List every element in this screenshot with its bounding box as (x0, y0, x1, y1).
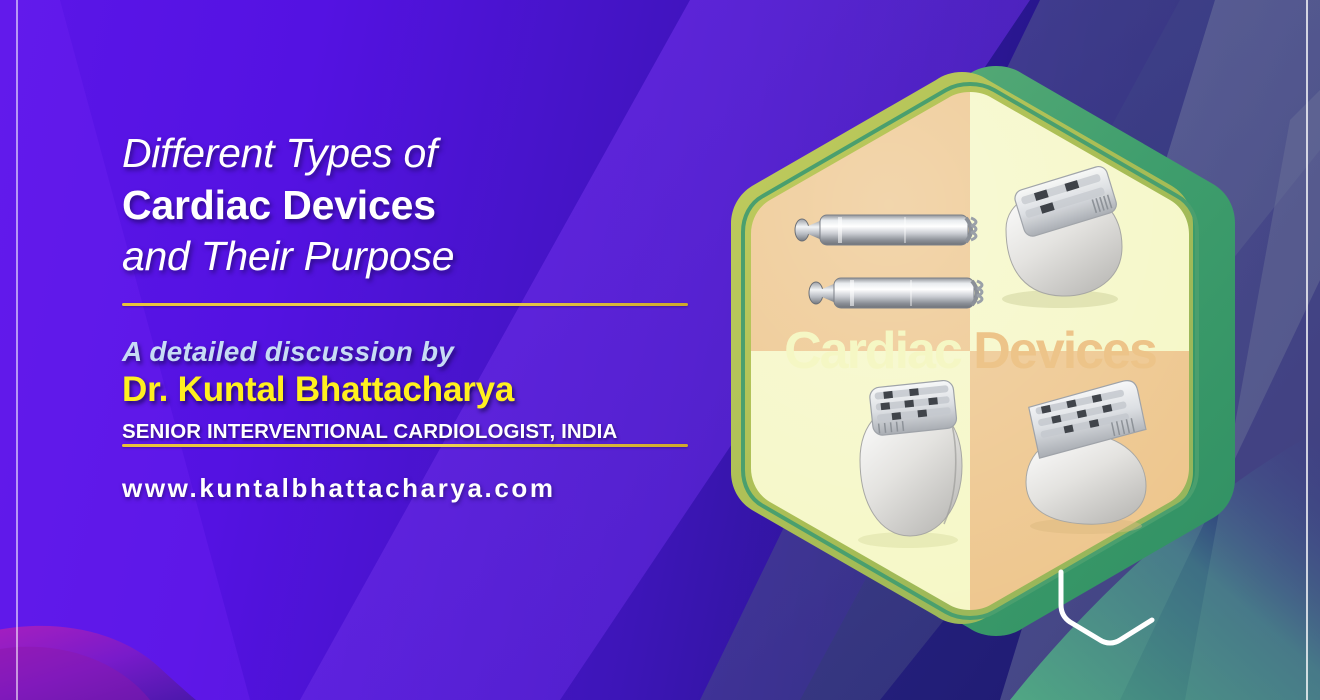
doctor-name: Dr. Kuntal Bhattacharya (122, 370, 722, 410)
title-line-1: Different Types of (122, 128, 722, 180)
title-line-3: and Their Purpose (122, 231, 722, 283)
website-url[interactable]: www.kuntalbhattacharya.com (122, 473, 722, 504)
divider-top (122, 303, 688, 306)
left-frame-line (16, 0, 18, 700)
pm-header (869, 380, 958, 437)
text-content-column: Different Types of Cardiac Devices and T… (122, 128, 722, 504)
hexagon-wordmark: Cardiac Devices Cardiac Devices (784, 322, 1156, 380)
lead-body-b (834, 278, 974, 308)
byline-intro: A detailed discussion by (122, 336, 722, 368)
page-title: Different Types of Cardiac Devices and T… (122, 128, 722, 283)
lead-tip-b (809, 282, 823, 304)
doctor-credential: SENIOR INTERVENTIONAL CARDIOLOGIST, INDI… (122, 420, 722, 444)
lead-tip-a (795, 219, 809, 241)
right-frame-line (1306, 0, 1308, 700)
banner-root: Cardiac Devices Cardiac Devices Differen… (0, 0, 1320, 700)
title-line-2: Cardiac Devices (122, 180, 722, 232)
cardiac-devices-badge: Cardiac Devices Cardiac Devices (700, 58, 1240, 644)
hexagon-badge-svg: Cardiac Devices Cardiac Devices (700, 58, 1240, 644)
lead-body-a (820, 215, 968, 245)
divider-bottom (122, 444, 688, 447)
